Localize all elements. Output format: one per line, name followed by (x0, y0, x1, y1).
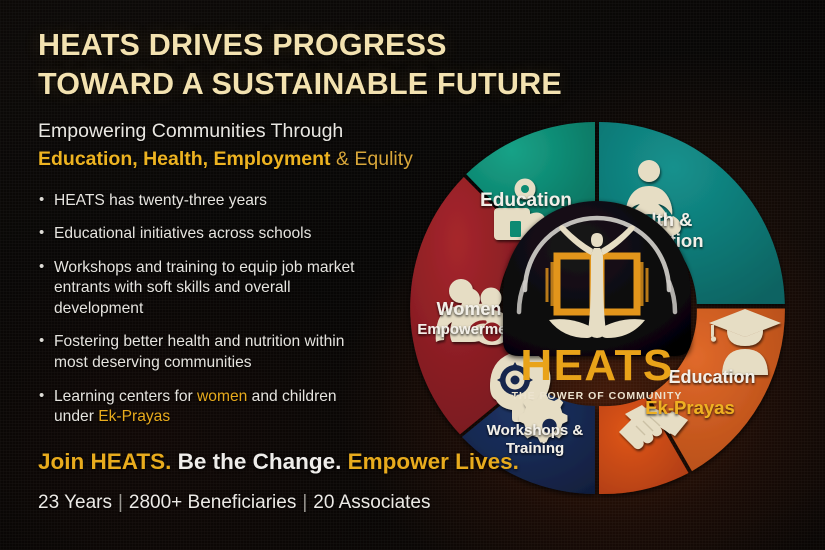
logo-wordmark: HEATS (520, 341, 673, 390)
list-item: Workshops and training to equip job mark… (38, 258, 368, 320)
statistics-bar: 23 Years|2800+ Beneficiaries|20 Associat… (38, 492, 468, 514)
bullet-highlight-women: women (197, 388, 247, 405)
bullet-text-5a: Learning centers for (54, 388, 197, 405)
segment-label-education-right: Education (668, 367, 755, 387)
headline-line-1: HEATS DRIVES PROGRESS (38, 26, 468, 65)
list-item: Educational initiatives across schools (38, 224, 368, 245)
subtitle-highlight: Education, Health, Employment (38, 148, 331, 170)
cta-part-2: Be the Change. (171, 449, 341, 474)
bullet-text-2: Educational initiatives across schools (54, 225, 311, 242)
call-to-action: Join HEATS. Be the Change. Empower Lives… (38, 448, 468, 475)
stat-beneficiaries: 2800+ Beneficiaries (129, 492, 296, 513)
stat-separator: | (112, 492, 129, 513)
stat-associates: 20 Associates (313, 492, 430, 513)
subtitle-line-2: Education, Health, Employment & Equlity (38, 147, 468, 173)
content-column: HEATS DRIVES PROGRESS TOWARD A SUSTAINAB… (38, 26, 468, 514)
subtitle-line-1: Empowering Communities Through (38, 119, 468, 144)
segment-label-workshops-line1: Workshops & (487, 422, 584, 439)
list-item: Fostering better health and nutrition wi… (38, 332, 368, 373)
stat-years: 23 Years (38, 492, 112, 513)
list-item: HEATS has twenty-three years (38, 191, 368, 212)
bullet-text-3: Workshops and training to equip job mark… (54, 259, 355, 317)
cta-part-1: Join HEATS. (38, 449, 171, 474)
center-logo-badge[interactable]: HEATS THE POWER OF COMMUNITY (503, 201, 691, 402)
page-title: HEATS DRIVES PROGRESS TOWARD A SUSTAINAB… (38, 26, 468, 103)
infographic-poster: HEATS DRIVES PROGRESS TOWARD A SUSTAINAB… (0, 0, 825, 550)
bullet-text-4: Fostering better health and nutrition wi… (54, 333, 344, 371)
logo-tagline: THE POWER OF COMMUNITY (512, 390, 683, 402)
headline-line-2: TOWARD A SUSTAINABLE FUTURE (38, 65, 468, 104)
stat-separator: | (296, 492, 313, 513)
segment-label-education-top: Education (480, 190, 572, 211)
benefits-list: HEATS has twenty-three years Educational… (38, 191, 368, 428)
cta-part-3: Empower Lives. (341, 449, 519, 474)
list-item: Learning centers for women and children … (38, 387, 368, 428)
bullet-highlight-ekprayas: Ek-Prayas (98, 408, 170, 425)
bullet-text-1: HEATS has twenty-three years (54, 192, 267, 209)
subtitle-tail: & Equlity (331, 148, 413, 170)
